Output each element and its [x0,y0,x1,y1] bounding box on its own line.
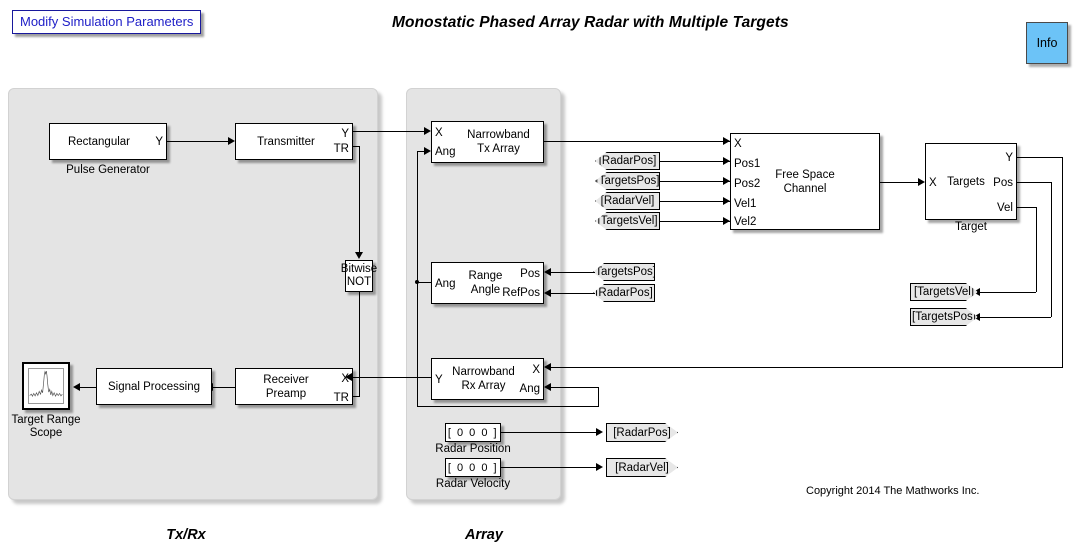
wire-rangeangle-ang-vertical [417,151,418,282]
target-in-port-x: X [929,177,937,189]
wire-from-targetspos-to-rangeangle-pos [551,272,595,273]
wire-from-targetsvel-to-vel2 [660,221,730,222]
target-caption: Target [925,221,1017,234]
arrow-rxarray-x-in [544,363,551,371]
target-out-port-pos: Pos [993,177,1013,189]
narrowband-rx-array-line1: Narrowband [446,365,521,379]
signal-processing-block[interactable]: Signal Processing [96,368,212,405]
wire-preamp-to-signalproc [212,387,236,388]
bitwise-not-line1: Bitwise [341,263,377,276]
wire-target-pos-to-goto [980,317,1051,318]
wire-radarvel-to-goto [501,467,599,468]
page-title: Monostatic Phased Array Radar with Multi… [392,14,789,32]
arrow-scope-in [73,383,80,391]
target-out-port-y: Y [1005,152,1013,164]
wire-target-vel-to-goto [980,292,1036,293]
arrow-transmitter-in [228,137,235,145]
wire-signalproc-to-scope [79,387,97,388]
range-angle-out-port-ang: Ang [435,278,455,290]
target-title: Targets [926,175,1016,189]
receiver-preamp-in-port-tr: TR [334,392,349,404]
rx-array-out-port-y: Y [435,374,443,386]
pulse-generator-out-port-y: Y [155,136,163,148]
wire-bitwise-to-preamp-tr [352,396,360,397]
channel-in-port-pos1: Pos1 [734,158,760,170]
narrowband-tx-array-line2: Tx Array [454,142,543,156]
radar-velocity-constant-block[interactable]: [ 0 0 0 ] [445,458,501,477]
goto-tag-targets-vel[interactable]: [TargetsVel] [910,283,978,301]
wire-target-y-to-rxarray [551,367,1063,368]
arrow-target-x-in [918,178,925,186]
radar-position-caption: Radar Position [425,443,521,456]
target-out-port-vel: Vel [997,202,1013,214]
rx-array-in-port-ang: Ang [520,383,540,395]
wire-transmitter-y-to-txarray [353,131,425,132]
signal-processing-title: Signal Processing [97,380,211,394]
arrow-channel-vel1-in [723,197,730,205]
goto-tag-radar-pos[interactable]: [RadarPos] [606,423,678,442]
receiver-preamp-line2: Preamp [236,387,336,401]
range-angle-line2: Angle [452,283,519,297]
arrow-txarray-ang-in [424,147,431,155]
wire-from-radarpos-to-pos1 [660,161,730,162]
scope-caption-line2: Scope [0,427,92,440]
radar-position-constant-block[interactable]: [ 0 0 0 ] [445,423,501,442]
transmitter-title: Transmitter [236,135,352,149]
wire-target-pos-right [1017,182,1052,183]
narrowband-tx-array-line1: Narrowband [454,128,543,142]
receiver-preamp-line1: Receiver [236,373,336,387]
receiver-preamp-block[interactable]: Receiver Preamp X TR [235,368,353,405]
arrow-goto-radarpos-in [596,428,603,436]
range-angle-line1: Range [452,269,519,283]
wire-from-radarpos-to-rangeangle-refpos [551,293,595,294]
scope-display-area [28,368,64,404]
transmitter-out-port-tr: TR [334,143,349,155]
wire-rangeangle-ang-out [417,282,431,283]
wire-channel-to-target [880,182,920,183]
narrowband-tx-array-block[interactable]: Narrowband Tx Array X Ang [431,121,544,163]
wire-rxarray-y-to-preamp [352,377,436,378]
wire-target-pos-down [1051,182,1052,317]
target-range-scope-block[interactable] [22,362,70,410]
from-tag-targets-pos-channel[interactable]: [TargetsPos] [595,172,660,190]
transmitter-out-port-y: Y [341,128,349,140]
transmitter-block[interactable]: Transmitter Y TR [235,123,353,160]
arrow-channel-pos2-in [723,177,730,185]
pulse-generator-caption: Pulse Generator [49,164,167,177]
arrow-channel-pos1-in [723,157,730,165]
narrowband-rx-array-block[interactable]: Narrowband Rx Array Y X Ang [431,358,544,400]
arrow-preamp-x-in [345,373,352,381]
from-tag-targets-vel-channel[interactable]: [TargetsVel] [595,212,660,230]
channel-in-port-vel1: Vel1 [734,198,756,210]
wire-radarpos-to-goto [501,432,599,433]
goto-tag-targets-pos[interactable]: [TargetsPos] [910,308,978,326]
range-angle-in-port-pos: Pos [520,268,540,280]
wire-target-y-down [1062,157,1063,367]
wire-rxarray-ang-left [417,406,599,407]
rx-array-in-port-x: X [532,364,540,376]
wire-rxarray-ang-up [417,282,418,407]
arrow-bitwise-not-in [355,252,363,259]
wire-target-vel-down [1036,207,1037,292]
wire-rxarray-ang-stub [551,387,599,388]
range-angle-in-port-refpos: RefPos [502,287,540,299]
arrow-rxarray-ang-in [544,383,551,391]
tx-array-in-port-x: X [435,127,443,139]
wire-from-radarvel-to-vel1 [660,201,730,202]
target-range-scope-caption: Target Range Scope [0,414,92,440]
channel-in-port-x: X [734,138,742,150]
wire-from-targetspos-to-pos2 [660,181,730,182]
pulse-generator-title: Rectangular [50,135,166,149]
modify-simulation-parameters-button[interactable]: Modify Simulation Parameters [12,10,201,34]
goto-tag-radar-vel[interactable]: [RadarVel] [606,458,678,477]
bitwise-not-block[interactable]: Bitwise NOT [345,260,373,292]
simulink-model-canvas: Modify Simulation Parameters Monostatic … [0,0,1081,558]
arrow-channel-vel2-in [723,217,730,225]
free-space-channel-line2: Channel [731,182,879,196]
radar-velocity-caption: Radar Velocity [425,478,521,491]
from-tag-radar-vel-channel[interactable]: [RadarVel] [595,192,660,210]
from-tag-targets-pos-rangeangle[interactable]: [TargetsPos] [593,263,655,281]
scope-caption-line1: Target Range [0,414,92,427]
array-group-caption: Array [391,527,577,543]
wire-bitwise-not-down [359,292,360,396]
bitwise-not-line2: NOT [347,276,371,289]
pulse-generator-block[interactable]: Rectangular Y [49,123,167,160]
narrowband-rx-array-line2: Rx Array [446,379,521,393]
arrow-txarray-x-in [424,127,431,135]
copyright-notice: Copyright 2014 The Mathworks Inc. [806,485,979,497]
tx-array-in-port-ang: Ang [435,146,455,158]
target-block[interactable]: Targets X Y Pos Vel [925,143,1017,220]
arrow-rangeangle-pos-in [544,268,551,276]
arrow-rangeangle-refpos-in [544,289,551,297]
wire-target-y-right [1017,157,1063,158]
free-space-channel-block[interactable]: Free Space Channel X Pos1 Pos2 Vel1 Vel2 [730,133,880,230]
scope-waveform-icon [29,369,63,403]
wire-transmitter-tr-down [359,146,360,256]
txrx-group-caption: Tx/Rx [93,527,279,543]
from-tag-radar-pos-channel[interactable]: [RadarPos] [595,152,660,170]
channel-in-port-vel2: Vel2 [734,216,756,228]
range-angle-block[interactable]: Range Angle Ang Pos RefPos [431,262,544,304]
channel-in-port-pos2: Pos2 [734,178,760,190]
free-space-channel-line1: Free Space [731,168,879,182]
arrow-channel-x-in [723,137,730,145]
wire-rxarray-ang-down [598,387,599,407]
wire-txarray-to-channel-x [544,141,730,142]
info-button[interactable]: Info [1026,22,1068,64]
from-tag-radar-pos-rangeangle[interactable]: [RadarPos] [593,284,655,302]
arrow-goto-radarvel-in [596,463,603,471]
wire-pulsegen-to-transmitter [167,141,229,142]
wire-target-vel-right [1017,207,1037,208]
